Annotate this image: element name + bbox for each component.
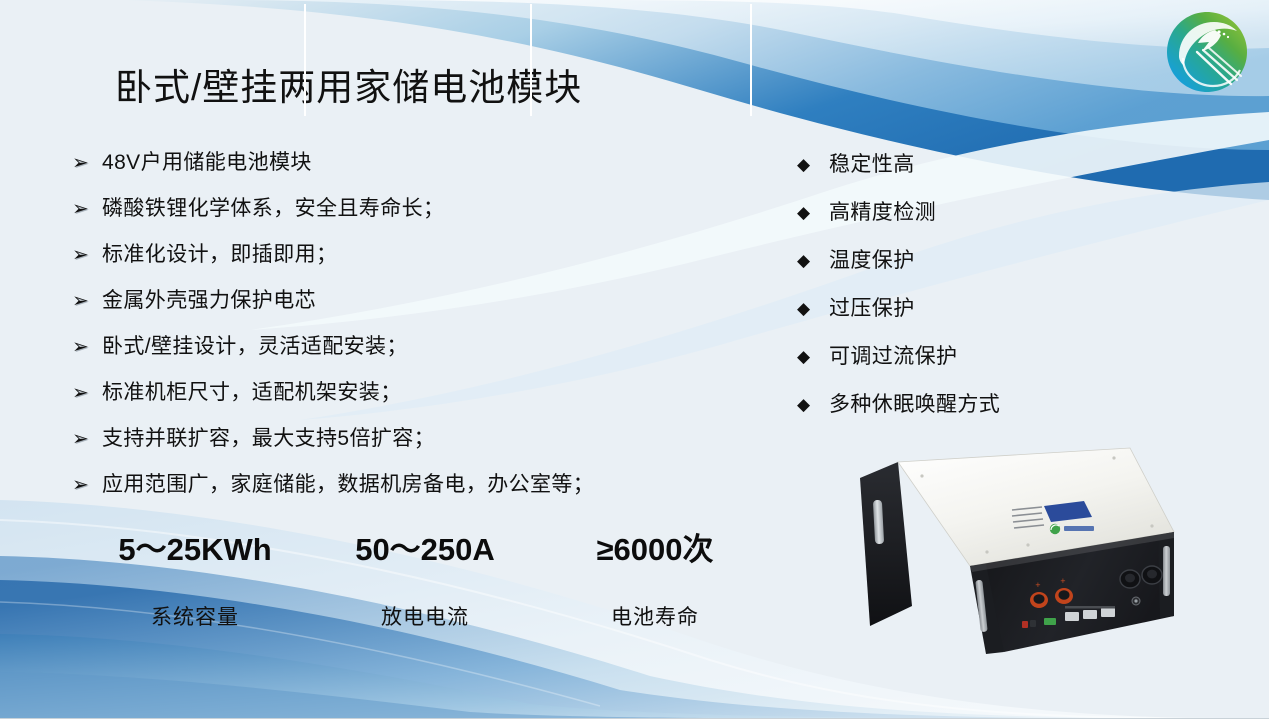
list-item: ➢ 应用范围广，家庭储能，数据机房备电，办公室等； [72, 472, 752, 498]
stat-value: 50～250A [355, 524, 495, 569]
list-item: ◆ 可调过流保护 [797, 344, 1107, 370]
svg-text:+: + [1060, 577, 1066, 585]
diamond-bullet-icon: ◆ [797, 200, 829, 226]
list-item: ◆ 多种休眠唤醒方式 [797, 392, 1107, 418]
list-item-label: 卧式/壁挂设计，灵活适配安装； [102, 334, 408, 360]
list-item-label: 磷酸铁锂化学体系，安全且寿命长； [102, 196, 444, 222]
stat-discharge-current: 50～250A 放电电流 [310, 512, 540, 632]
stat-divider [304, 4, 306, 116]
arrow-bullet-icon: ➢ [72, 380, 102, 406]
list-item: ➢ 金属外壳强力保护电芯 [72, 288, 752, 314]
list-item-label: 标准机柜尺寸，适配机架安装； [102, 380, 402, 406]
diamond-bullet-icon: ◆ [797, 248, 829, 274]
arrow-bullet-icon: ➢ [72, 472, 102, 498]
list-item-label: 多种休眠唤醒方式 [829, 392, 1000, 418]
stat-label: 放电电流 [381, 601, 469, 631]
diamond-bullet-icon: ◆ [797, 152, 829, 178]
list-item-label: 支持并联扩容，最大支持5倍扩容； [102, 426, 435, 452]
slide-root: 卧式/壁挂两用家储电池模块 ➢ 48V户用储能电池模块 ➢ 磷酸铁锂化学体系，安… [0, 0, 1269, 719]
company-logo [1161, 6, 1253, 98]
stat-label: 电池寿命 [611, 601, 699, 631]
list-item-label: 高精度检测 [829, 200, 936, 226]
arrow-bullet-icon: ➢ [72, 334, 102, 360]
arrow-bullet-icon: ➢ [72, 288, 102, 314]
diamond-bullet-icon: ◆ [797, 296, 829, 322]
page-title: 卧式/壁挂两用家储电池模块 [115, 57, 582, 111]
stat-system-capacity: 5～25KWh 系统容量 [80, 512, 310, 632]
svg-text:+: + [1035, 581, 1041, 589]
key-specs-strip: 5～25KWh 系统容量 50～250A 放电电流 ≥6000次 电池寿命 [80, 512, 770, 632]
diamond-bullet-icon: ◆ [797, 392, 829, 418]
list-item: ➢ 标准机柜尺寸，适配机架安装； [72, 380, 752, 406]
arrow-bullet-icon: ➢ [72, 242, 102, 268]
list-item: ➢ 标准化设计，即插即用； [72, 242, 752, 268]
arrow-bullet-icon: ➢ [72, 196, 102, 222]
list-item-label: 金属外壳强力保护电芯 [102, 288, 316, 314]
list-item: ➢ 磷酸铁锂化学体系，安全且寿命长； [72, 196, 752, 222]
list-item: ◆ 过压保护 [797, 296, 1107, 322]
features-right-column: ◆ 稳定性高 ◆ 高精度检测 ◆ 温度保护 ◆ 过压保护 ◆ 可调过流保护 ◆ … [797, 152, 1107, 440]
stat-value: 5～25KWh [118, 524, 271, 569]
stat-divider [750, 4, 752, 116]
stat-value: ≥6000次 [597, 524, 714, 569]
list-item-label: 48V户用储能电池模块 [102, 150, 312, 176]
list-item: ◆ 高精度检测 [797, 200, 1107, 226]
list-item-label: 应用范围广，家庭储能，数据机房备电，办公室等； [102, 472, 594, 498]
list-item-label: 稳定性高 [829, 152, 915, 178]
stat-label: 系统容量 [151, 601, 239, 631]
list-item-label: 标准化设计，即插即用； [102, 242, 337, 268]
diamond-bullet-icon: ◆ [797, 344, 829, 370]
battery-module-photo: + + [852, 440, 1182, 670]
list-item: ➢ 卧式/壁挂设计，灵活适配安装； [72, 334, 752, 360]
arrow-bullet-icon: ➢ [72, 426, 102, 452]
list-item-label: 温度保护 [829, 248, 915, 274]
list-item: ➢ 支持并联扩容，最大支持5倍扩容； [72, 426, 752, 452]
stat-battery-life: ≥6000次 电池寿命 [540, 512, 770, 632]
stat-divider [530, 4, 532, 116]
list-item: ◆ 温度保护 [797, 248, 1107, 274]
list-item-label: 可调过流保护 [829, 344, 957, 370]
list-item: ◆ 稳定性高 [797, 152, 1107, 178]
list-item: ➢ 48V户用储能电池模块 [72, 150, 752, 176]
features-left-column: ➢ 48V户用储能电池模块 ➢ 磷酸铁锂化学体系，安全且寿命长； ➢ 标准化设计… [72, 150, 752, 518]
list-item-label: 过压保护 [829, 296, 915, 322]
arrow-bullet-icon: ➢ [72, 150, 102, 176]
